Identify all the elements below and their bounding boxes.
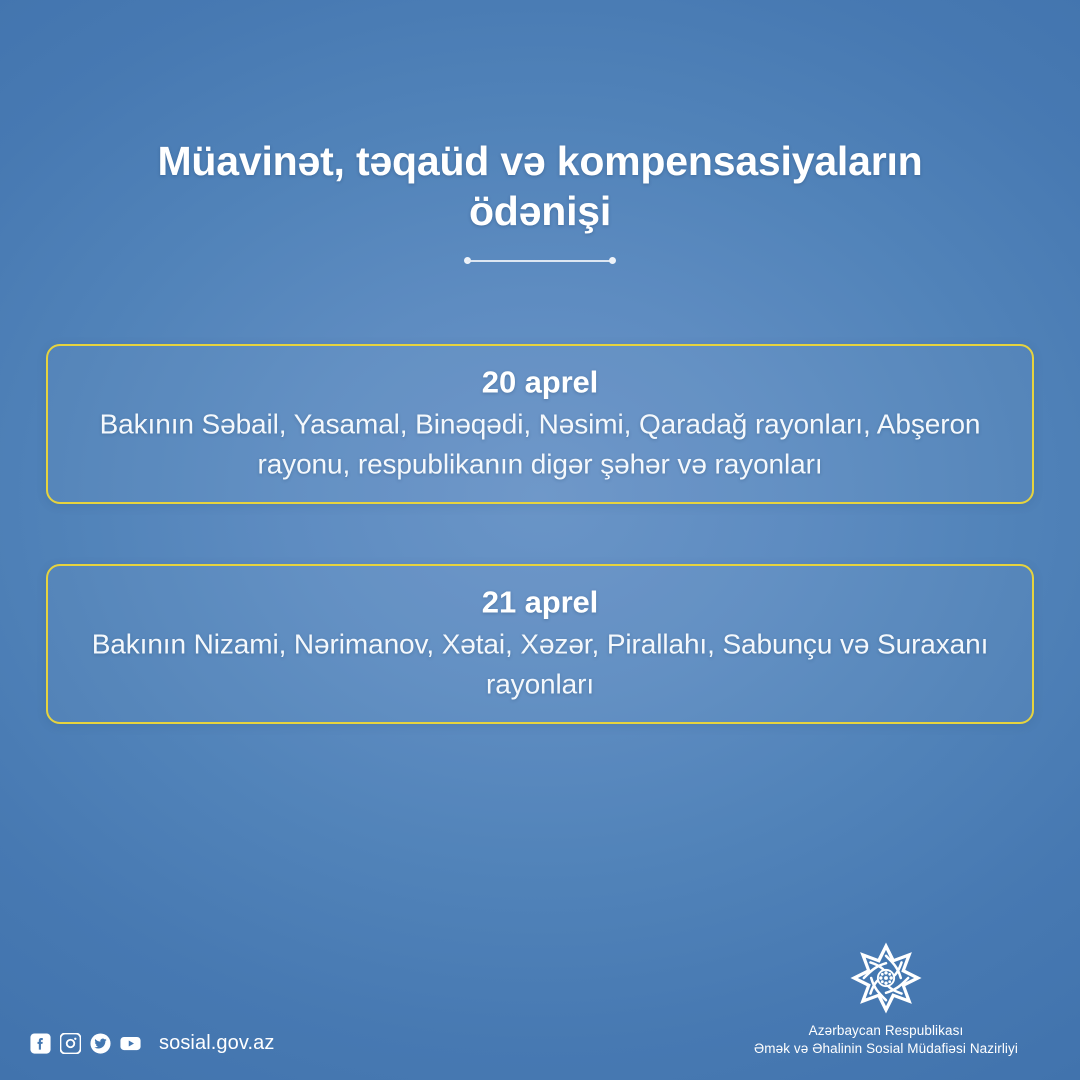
title-divider <box>464 257 616 264</box>
divider-dot-right <box>609 257 616 264</box>
facebook-icon[interactable] <box>30 1033 51 1054</box>
payment-schedule-card-1: 20 aprel Bakının Səbail, Yasamal, Binəqə… <box>46 344 1034 504</box>
card-districts: Bakının Nizami, Nərimanov, Xətai, Xəzər,… <box>74 625 1006 705</box>
instagram-icon[interactable] <box>60 1033 81 1054</box>
ministry-line-1: Azərbaycan Respublikası <box>726 1022 1046 1040</box>
website-link[interactable]: sosial.gov.az <box>159 1033 274 1054</box>
social-bar: sosial.gov.az <box>30 1033 274 1054</box>
twitter-icon[interactable] <box>90 1033 111 1054</box>
ministry-line-2: Əmək və Əhalinin Sosial Müdafiəsi Nazirl… <box>726 1040 1046 1058</box>
card-content: 21 aprel Bakının Nizami, Nərimanov, Xəta… <box>74 584 1006 705</box>
card-date: 21 aprel <box>74 584 1006 622</box>
payment-schedule-card-2: 21 aprel Bakının Nizami, Nərimanov, Xəta… <box>46 564 1034 724</box>
eight-pointed-star-emblem <box>849 941 923 1015</box>
page-title: Müavinət, təqaüd və kompensasiyaların öd… <box>140 136 940 236</box>
card-date: 20 aprel <box>74 364 1006 402</box>
card-districts: Bakının Səbail, Yasamal, Binəqədi, Nəsim… <box>74 405 1006 485</box>
divider-line <box>467 260 613 262</box>
title-block: Müavinət, təqaüd və kompensasiyaların öd… <box>0 136 1080 264</box>
card-content: 20 aprel Bakının Səbail, Yasamal, Binəqə… <box>74 364 1006 485</box>
poster-canvas: Müavinət, təqaüd və kompensasiyaların öd… <box>0 0 1080 1080</box>
youtube-icon[interactable] <box>120 1033 141 1054</box>
ministry-block: Azərbaycan Respublikası Əmək və Əhalinin… <box>726 941 1046 1058</box>
